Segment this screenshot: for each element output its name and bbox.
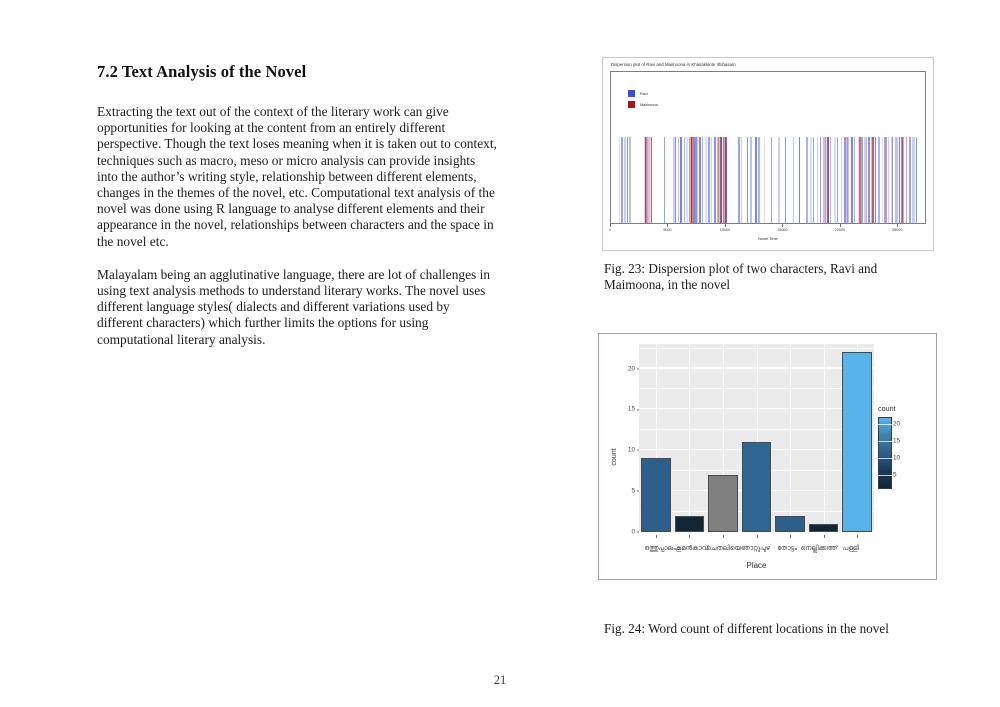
gridline-vertical — [824, 344, 825, 532]
dispersion-tick-ravi — [678, 137, 680, 223]
bar-chart-x-ticklabel: തോട്ടം — [777, 545, 797, 553]
dispersion-tick-ravi — [878, 137, 880, 223]
bar-chart-y-ticklabel: 5 — [631, 488, 635, 495]
bar-chart-x-tickmark — [857, 535, 858, 538]
legend-swatch-ravi — [628, 90, 635, 97]
dispersion-x-ticklabel: 0 — [609, 228, 611, 232]
dispersion-tick-ravi — [875, 137, 877, 223]
dispersion-tick-ravi — [621, 137, 623, 223]
bar-chart-x-ticklabel: നെല്ലിക്കത്ത് — [801, 545, 838, 553]
gridline-vertical — [689, 344, 690, 532]
dispersion-tick-ravi — [834, 137, 836, 223]
legend-tickline — [878, 458, 892, 459]
body-paragraph-2: Malayalam being an agglutinative languag… — [97, 267, 497, 348]
figure-23-dispersion-plot: Dispersion plot of Ravi and Maimoona in … — [602, 57, 934, 251]
dispersion-x-tickmark — [610, 224, 611, 227]
dispersion-tick-maimoona — [901, 137, 903, 223]
dispersion-tick-maimoona — [721, 137, 722, 223]
dispersion-x-tickmark — [897, 224, 898, 227]
dispersion-tick-maimoona — [725, 137, 727, 223]
bar-chart-x-tickmark — [757, 535, 758, 538]
dispersion-tick-ravi — [909, 137, 911, 223]
bar-chart-x-tick-labels: ഒത്തുപ്പാലംകൂമൻകാവ്ചെതലിയെഞാറ്റുപുഴതോട്ട… — [623, 545, 888, 557]
bar-chart-y-ticklabel: 15 — [628, 406, 635, 413]
dispersion-tick-ravi — [758, 137, 760, 223]
dispersion-tick-ravi — [799, 137, 800, 223]
dispersion-tick-ravi — [686, 137, 688, 223]
dispersion-tick-ravi — [684, 137, 685, 223]
dispersion-tick-ravi — [916, 137, 917, 223]
dispersion-tick-maimoona — [872, 137, 874, 223]
dispersion-tick-ravi — [830, 137, 831, 223]
dispersion-tick-ravi — [699, 137, 701, 223]
dispersion-tick-ravi — [817, 137, 819, 223]
dispersion-strip-area — [611, 137, 925, 223]
dispersion-tick-ravi — [899, 137, 900, 223]
bar-6 — [809, 524, 839, 532]
legend-tickline — [878, 424, 892, 425]
dispersion-tick-ravi — [785, 137, 786, 223]
legend-gradient-wrap: 2015105 — [876, 417, 926, 489]
bar-chart-x-tickmark — [790, 535, 791, 538]
bar-chart-x-ticklabel: ചെതലിയെ — [706, 545, 741, 553]
dispersion-x-ticklabel: 25000 — [892, 228, 902, 232]
dispersion-tick-ravi — [675, 137, 676, 223]
dispersion-x-tickmark — [840, 224, 841, 227]
dispersion-tick-ravi — [806, 137, 808, 223]
dispersion-x-axis-label: Novel Time — [610, 236, 926, 241]
dispersion-tick-ravi — [868, 137, 870, 223]
page-number: 21 — [0, 673, 1000, 688]
dispersion-plot-panel: Ravi Maimoona — [610, 71, 926, 224]
legend-title-count: count — [876, 404, 928, 413]
dispersion-tick-ravi — [702, 137, 703, 223]
dispersion-tick-ravi — [711, 137, 712, 223]
dispersion-x-tickmark — [667, 224, 668, 227]
dispersion-x-ticklabel: 20000 — [835, 228, 845, 232]
dispersion-tick-ravi — [764, 137, 765, 223]
dispersion-tick-ravi — [755, 137, 756, 223]
bar-chart-x-tickmarks — [639, 535, 874, 539]
figure-24-bar-chart: count 05101520 ഒത്തുപ്പാലംകൂമൻകാവ്ചെതലിയ… — [598, 333, 937, 580]
legend-label-ravi: Ravi — [640, 92, 648, 96]
legend-tickline — [878, 475, 892, 476]
bar-chart-y-ticklabel: 10 — [628, 447, 635, 454]
dispersion-tick-maimoona — [866, 137, 867, 223]
legend-ticklabel: 15 — [893, 438, 900, 445]
dispersion-tick-ravi — [882, 137, 883, 223]
legend-ticklabel: 20 — [893, 420, 900, 427]
bar-5 — [775, 516, 805, 532]
body-paragraph-1: Extracting the text out of the context o… — [97, 104, 497, 250]
bar-chart-x-ticklabel: കൂമൻകാവ് — [676, 545, 709, 553]
legend-tickline — [878, 441, 892, 442]
dispersion-tick-ravi — [861, 137, 863, 223]
legend-item-maimoona: Maimoona — [628, 99, 658, 110]
dispersion-tick-ravi — [664, 137, 665, 223]
dispersion-tick-maimoona — [651, 137, 652, 223]
dispersion-tick-maimoona — [906, 137, 907, 223]
bar-4 — [742, 442, 772, 532]
dispersion-tick-ravi — [793, 137, 795, 223]
bar-chart-y-ticklabel: 0 — [631, 529, 635, 536]
bar-3 — [708, 475, 738, 532]
dispersion-legend: Ravi Maimoona — [628, 88, 658, 110]
bar-7 — [842, 352, 872, 532]
dispersion-tick-ravi — [627, 137, 628, 223]
dispersion-x-tickmark — [782, 224, 783, 227]
dispersion-tick-ravi — [750, 137, 752, 223]
legend-gradient-bar — [878, 417, 892, 489]
dispersion-tick-ravi — [810, 137, 812, 223]
figure-24-caption: Fig. 24: Word count of different locatio… — [604, 621, 924, 637]
dispersion-tick-ravi — [738, 137, 740, 223]
bar-chart-legend: count 2015105 — [876, 404, 928, 489]
dispersion-x-tickmark — [725, 224, 726, 227]
bar-chart-plot-panel — [639, 344, 874, 532]
figure-23-caption: Fig. 23: Dispersion plot of two characte… — [604, 261, 904, 292]
dispersion-tick-ravi — [813, 137, 814, 223]
text-column: 7.2 Text Analysis of the Novel Extractin… — [97, 62, 497, 365]
bar-chart-x-ticklabel: ഞാറ്റുപുഴ — [741, 545, 770, 553]
dispersion-tick-ravi — [851, 137, 853, 223]
bar-chart-x-tickmark — [723, 535, 724, 538]
legend-swatch-maimoona — [628, 101, 635, 108]
dispersion-tick-ravi — [741, 137, 742, 223]
dispersion-x-ticklabel: 15000 — [777, 228, 787, 232]
dispersion-tick-maimoona — [645, 137, 647, 223]
dispersion-tick-ravi — [680, 137, 682, 223]
bar-chart-y-ticks: 05101520 — [615, 344, 639, 532]
dispersion-tick-ravi — [747, 137, 749, 223]
dispersion-tick-ravi — [619, 137, 620, 223]
legend-ticklabel: 5 — [893, 472, 897, 479]
dispersion-tick-ravi — [895, 137, 897, 223]
dispersion-tick-ravi — [854, 137, 855, 223]
bar-1 — [641, 458, 671, 532]
dispersion-tick-ravi — [705, 137, 707, 223]
dispersion-tick-ravi — [714, 137, 716, 223]
dispersion-tick-ravi — [629, 137, 631, 223]
legend-item-ravi: Ravi — [628, 88, 658, 99]
dispersion-tick-ravi — [912, 137, 914, 223]
dispersion-x-axis: Novel Time 0500010000150002000025000 — [610, 224, 926, 250]
bar-chart-y-ticklabel: 20 — [628, 365, 635, 372]
dispersion-x-ticklabel: 5000 — [663, 228, 671, 232]
bar-chart-x-ticklabel: പള്ളി — [843, 545, 859, 553]
bar-chart-x-ticklabel: ഒത്തുപ്പാലം — [644, 545, 676, 553]
dispersion-tick-ravi — [837, 137, 838, 223]
section-heading: 7.2 Text Analysis of the Novel — [97, 62, 497, 82]
bar-chart-x-tickmark — [689, 535, 690, 538]
dispersion-tick-maimoona — [828, 137, 829, 223]
dispersion-tick-ravi — [697, 137, 698, 223]
legend-label-maimoona: Maimoona — [640, 103, 658, 107]
dispersion-tick-ravi — [771, 137, 773, 223]
dispersion-tick-ravi — [888, 137, 889, 223]
dispersion-plot-title: Dispersion plot of Ravi and Maimoona in … — [611, 62, 736, 67]
dispersion-tick-ravi — [778, 137, 780, 223]
bar-chart-x-axis-label: Place — [639, 561, 874, 570]
bar-chart-x-tickmark — [824, 535, 825, 538]
dispersion-tick-maimoona — [693, 137, 695, 223]
bar-2 — [675, 516, 705, 532]
dispersion-tick-ravi — [820, 137, 821, 223]
document-page: 7.2 Text Analysis of the Novel Extractin… — [0, 0, 1000, 707]
legend-ticklabel: 10 — [893, 455, 900, 462]
dispersion-tick-maimoona — [891, 137, 893, 223]
gridline-vertical — [790, 344, 791, 532]
dispersion-tick-maimoona — [859, 137, 861, 223]
dispersion-x-ticklabel: 10000 — [720, 228, 730, 232]
dispersion-tick-ravi — [885, 137, 887, 223]
dispersion-tick-maimoona — [846, 137, 848, 223]
dispersion-tick-ravi — [841, 137, 843, 223]
bar-chart-x-tickmark — [656, 535, 657, 538]
ggplot-root: count 05101520 ഒത്തുപ്പാലംകൂമൻകാവ്ചെതലിയ… — [603, 338, 932, 575]
dispersion-tick-maimoona — [884, 137, 885, 223]
